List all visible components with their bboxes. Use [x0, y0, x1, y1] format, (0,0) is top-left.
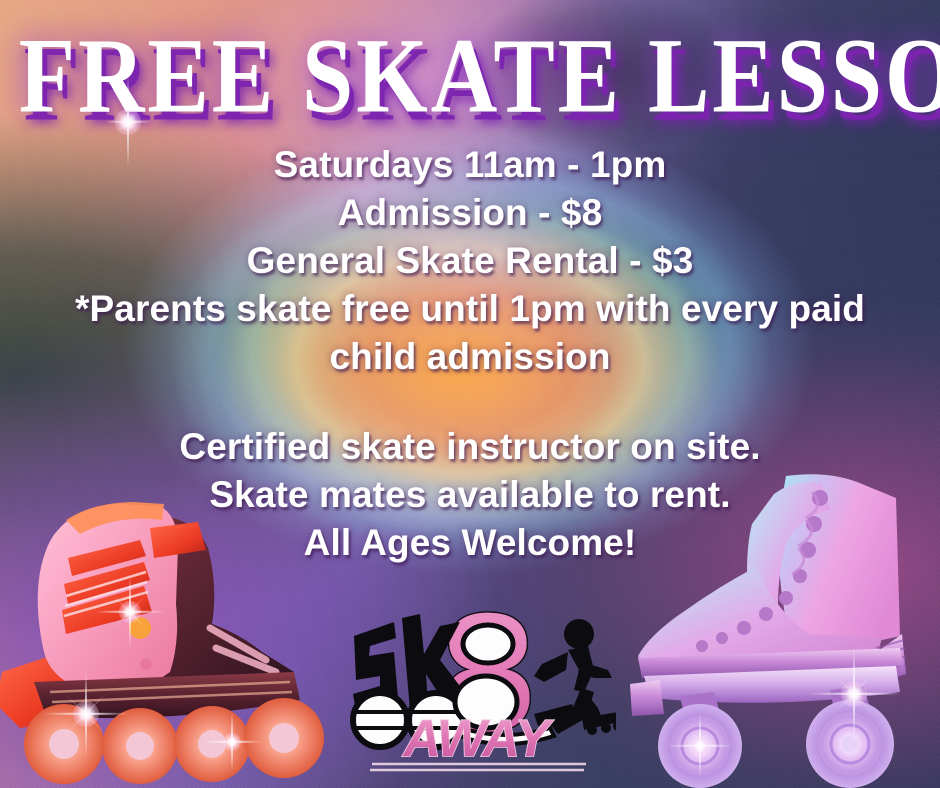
info-line-instructor: Certified skate instructor on site.: [0, 423, 940, 471]
quad-toe-stop: [630, 680, 664, 716]
skate-rivet-1: [129, 617, 151, 639]
flyer-title: FREE SKATE LESSONS: [19, 22, 921, 130]
sk8-away-logo: 8 8: [336, 578, 616, 774]
info-line-all-ages: All Ages Welcome!: [0, 519, 940, 567]
details-footnote: *Parents skate free until 1pm with every…: [0, 285, 940, 381]
details-line-admission: Admission - $8: [0, 189, 940, 237]
details-line-rental: General Skate Rental - $3: [0, 237, 940, 285]
details-text-block: Saturdays 11am - 1pm Admission - $8 Gene…: [0, 141, 940, 381]
flyer-canvas: FREE SKATE LESSONS Saturdays 11am - 1pm …: [0, 0, 940, 788]
quad-wheels: [658, 700, 894, 788]
svg-text:AWAY: AWAY: [401, 710, 554, 768]
info-line-skate-mates: Skate mates available to rent.: [0, 471, 940, 519]
details-line-schedule: Saturdays 11am - 1pm: [0, 141, 940, 189]
skate-rivet-2: [140, 658, 152, 670]
info-text-block: Certified skate instructor on site. Skat…: [0, 423, 940, 567]
